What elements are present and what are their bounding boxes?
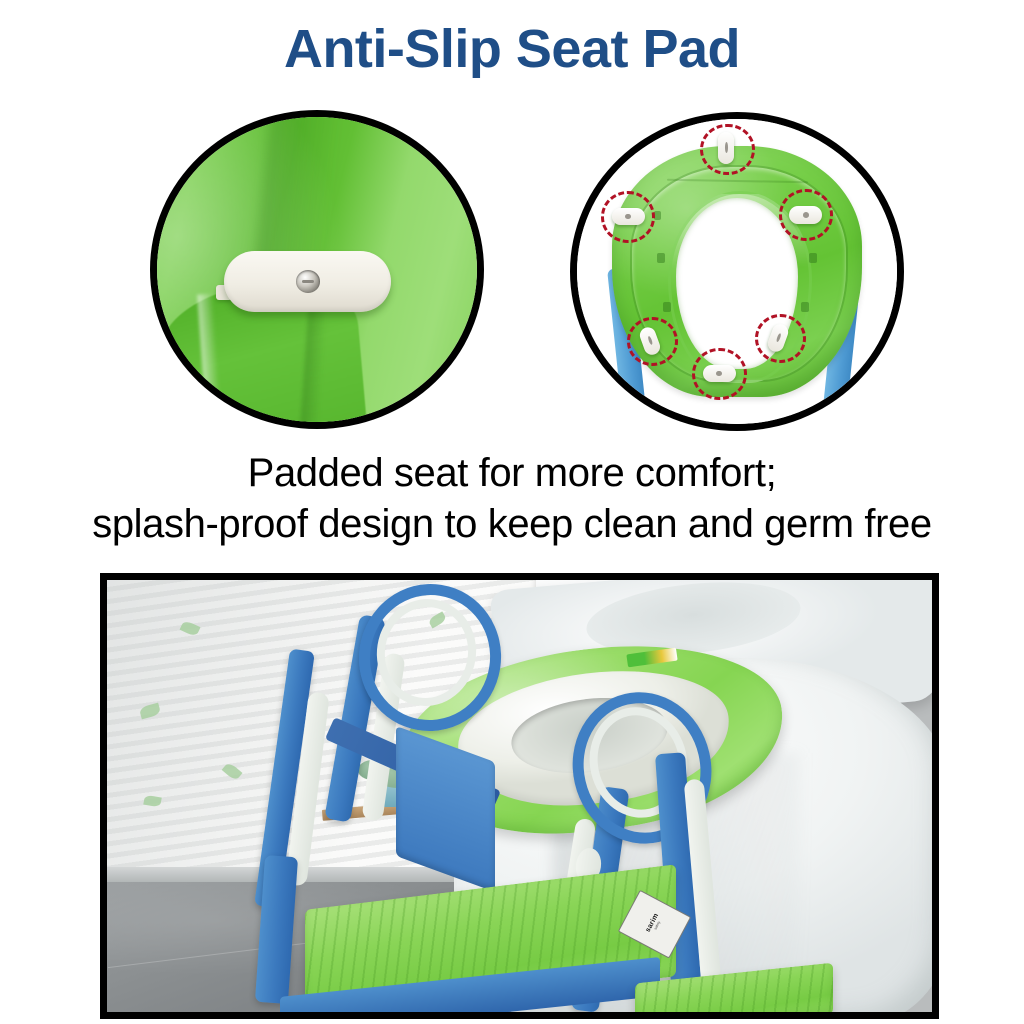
inset-left-image [157, 117, 477, 422]
bathroom-scene: sarim safety [107, 580, 932, 1012]
seat-notch [801, 302, 809, 312]
seat-notch [663, 302, 671, 312]
anti-slip-pad [718, 132, 734, 164]
infographic-page: Anti-Slip Seat Pad [0, 0, 1024, 1024]
inset-seat-underside-overview [570, 112, 904, 431]
caption-line-2: splash-proof design to keep clean and ge… [0, 499, 1024, 550]
anti-slip-pad [612, 208, 645, 226]
anti-slip-pad [789, 206, 822, 224]
anti-slip-pad-marker-lower-left [627, 317, 678, 366]
inset-anti-slip-pad-closeup [150, 110, 484, 429]
anti-slip-pad-marker-lower-right [755, 314, 806, 363]
inset-right-image [577, 119, 897, 424]
product-photo: sarim safety [100, 573, 939, 1019]
page-title: Anti-Slip Seat Pad [0, 20, 1024, 78]
anti-slip-pad-marker-upper-left [601, 191, 655, 243]
caption: Padded seat for more comfort; splash-pro… [0, 448, 1024, 550]
brand-tag-subtext: safety [654, 921, 661, 931]
anti-slip-pad-marker-upper-right [779, 189, 833, 241]
caption-line-1: Padded seat for more comfort; [0, 448, 1024, 499]
anti-slip-pad-marker-bottom [692, 348, 746, 400]
anti-slip-pad-marker-top [700, 124, 754, 176]
seat-notch [809, 253, 817, 263]
anti-slip-pad [703, 365, 736, 383]
seat-notch [657, 253, 665, 263]
